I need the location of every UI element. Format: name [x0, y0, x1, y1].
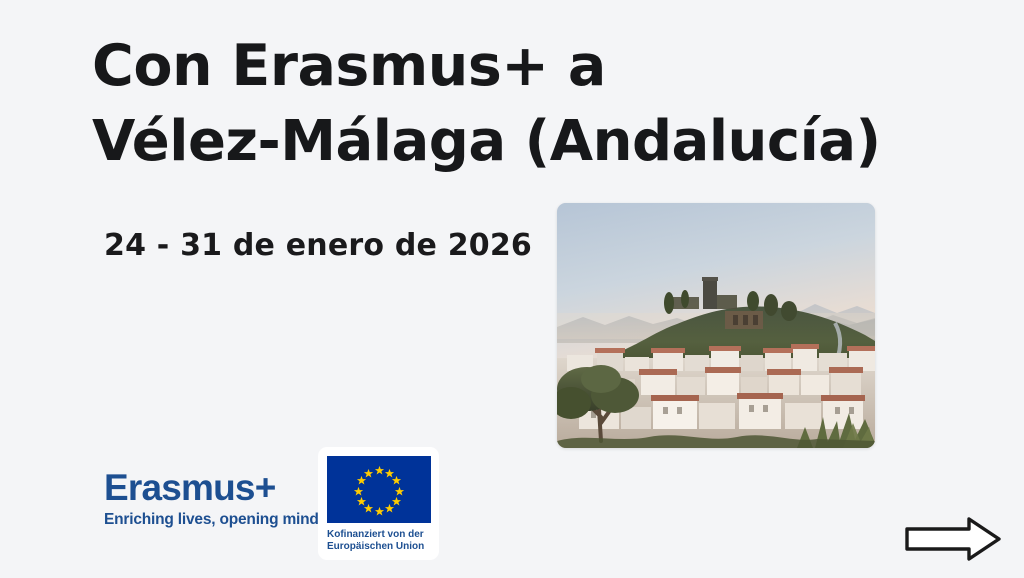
next-slide-arrow-button[interactable]: [903, 515, 1003, 563]
eu-star-icon: [353, 486, 362, 495]
title-line-2: Vélez-Málaga (Andalucía): [92, 104, 922, 180]
eu-star-icon: [395, 486, 404, 495]
photo-illustration: [557, 203, 875, 448]
eu-star-icon: [356, 496, 365, 505]
eu-caption-line-2: Europäischen Union: [327, 541, 431, 553]
presentation-slide: Con Erasmus+ a Vélez-Málaga (Andalucía) …: [0, 0, 1024, 578]
eu-star-icon: [374, 465, 383, 474]
eu-star-icon: [374, 507, 383, 516]
title-line-1: Con Erasmus+ a: [92, 28, 922, 104]
eu-star-icon: [384, 504, 393, 513]
eu-cofunded-badge: Kofinanziert von der Europäischen Union: [318, 447, 439, 560]
eu-star-icon: [364, 468, 373, 477]
erasmus-wordmark: Erasmus+: [104, 468, 294, 508]
eu-badge-caption: Kofinanziert von der Europäischen Union: [326, 529, 431, 553]
page-title: Con Erasmus+ a Vélez-Málaga (Andalucía): [92, 28, 922, 180]
eu-star-icon: [392, 476, 401, 485]
eu-caption-line-1: Kofinanziert von der: [327, 529, 431, 541]
eu-flag-icon: [327, 456, 431, 523]
erasmus-plus-logo: Erasmus+ Enriching lives, opening minds.: [104, 468, 294, 530]
erasmus-tagline: Enriching lives, opening minds.: [104, 510, 294, 530]
velez-malaga-photo: [557, 203, 875, 448]
date-range-text: 24 - 31 de enero de 2026: [104, 228, 532, 263]
arrow-right-icon[interactable]: [903, 515, 1003, 563]
